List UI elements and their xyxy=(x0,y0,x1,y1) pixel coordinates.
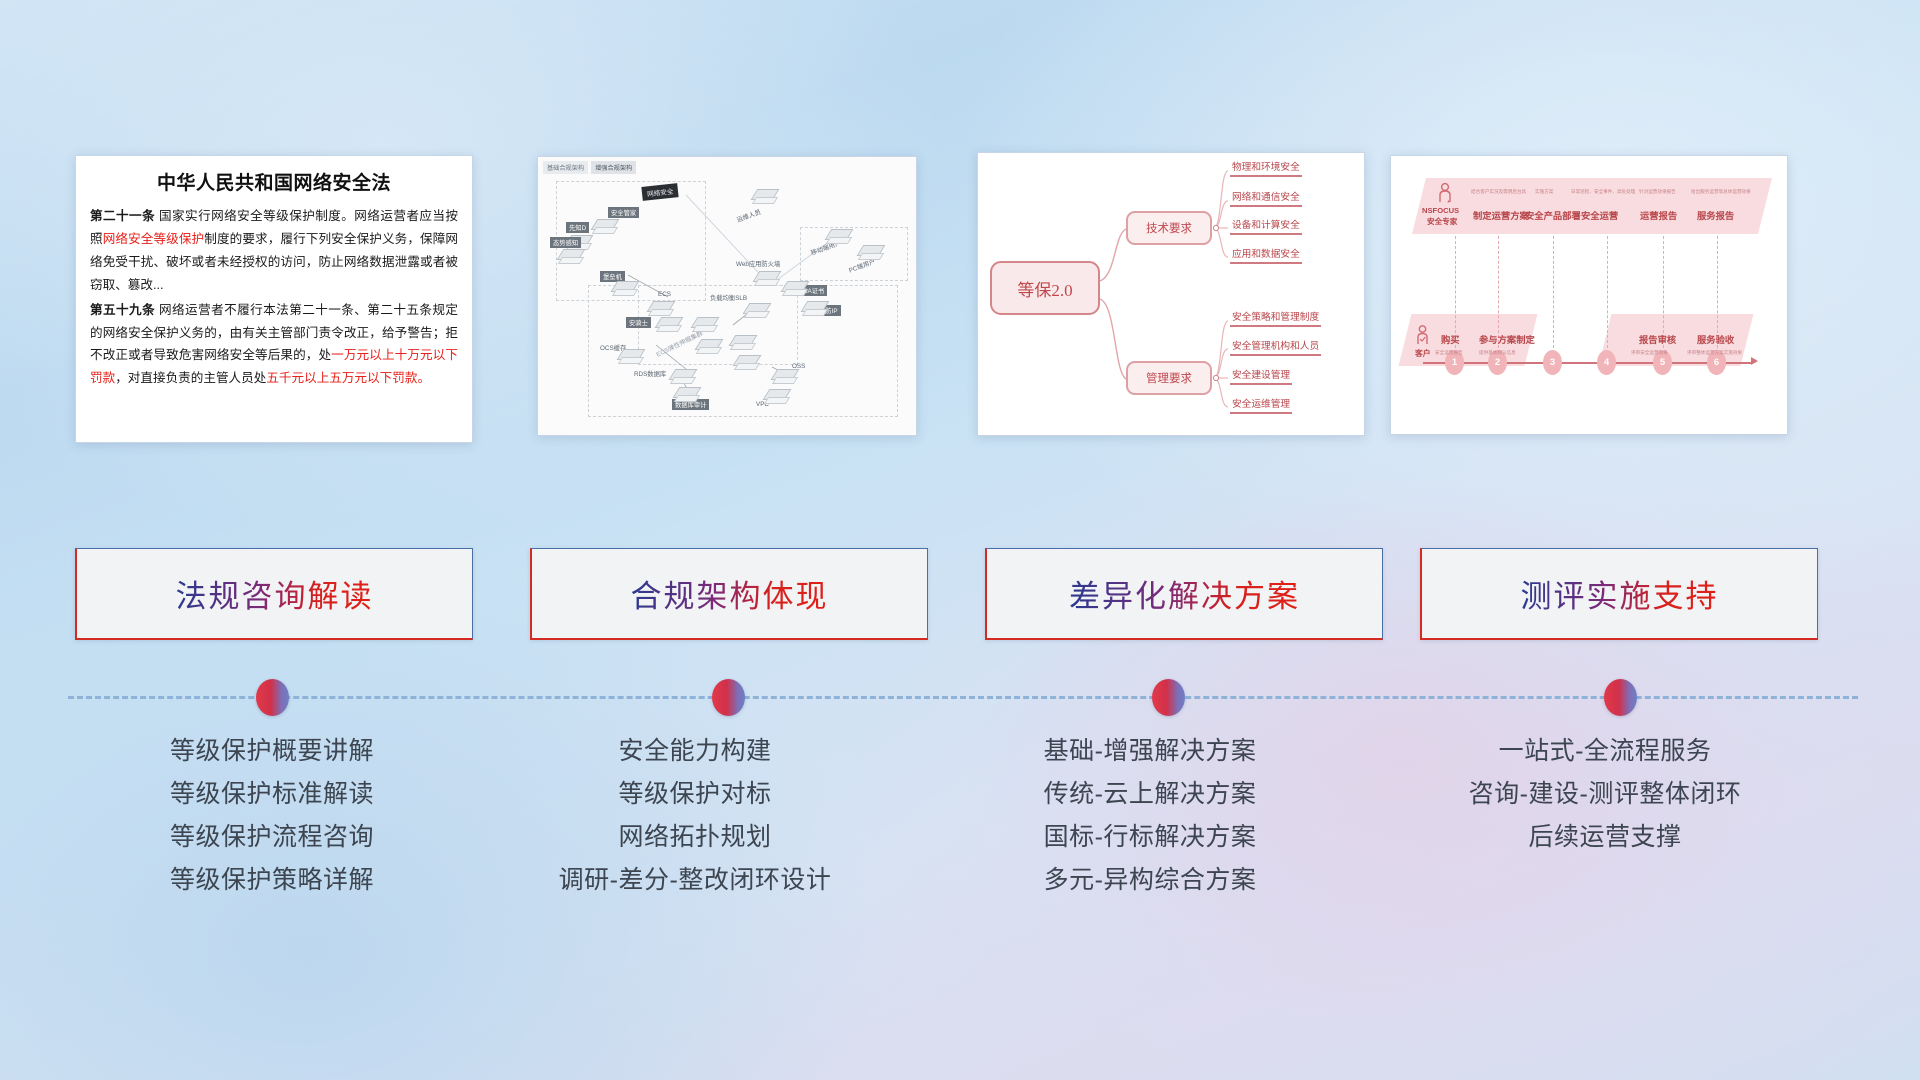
law-paragraph-1: 第二十一条 国家实行网络安全等级保护制度。网络运营者应当按照网络安全等级保护制度… xyxy=(90,205,458,297)
mindmap-leaf-m3: 安全建设管理 xyxy=(1230,367,1292,385)
feature-item-1-4: 等级保护策略详解 xyxy=(62,859,482,902)
top-step-3-label: 安全运营 xyxy=(1581,208,1618,222)
cube-ocs-cache xyxy=(620,349,646,369)
cube-pc-user xyxy=(860,245,886,265)
feature-item-1-3: 等级保护流程咨询 xyxy=(62,816,482,859)
cube-vpc xyxy=(766,389,792,409)
timeline-strip xyxy=(0,668,1920,728)
bottom-step-1-sub: 安全运营报告 xyxy=(1435,350,1463,356)
top-step-5-sub: 给出服务运营等总体运营效果 xyxy=(1691,189,1751,195)
cube-ca-cert xyxy=(784,281,810,301)
law-run-2d-highlight: 五千元以上五万元以下罚款。 xyxy=(266,371,430,385)
timeline-dot-4[interactable] xyxy=(1604,679,1637,716)
cube-waf xyxy=(756,271,782,291)
feature-item-4-1: 一站式-全流程服务 xyxy=(1395,730,1815,773)
feature-item-3-3: 国标-行标解决方案 xyxy=(940,816,1360,859)
title-label-4: 测评实施支持 xyxy=(1521,571,1719,616)
card-service-timeline[interactable]: NSFOCUS 安全专家 结合客户实况及需明后台具 制定运营方案 实施方案 安全… xyxy=(1390,155,1788,435)
law-run-1b-highlight: 网络安全等级保护 xyxy=(103,232,205,246)
customer-label: 客户 xyxy=(1415,348,1431,359)
service-timeline-canvas: NSFOCUS 安全专家 结合客户实况及需明后台具 制定运营方案 实施方案 安全… xyxy=(1391,156,1787,434)
card-mindmap[interactable]: 等保2.0 技术要求 管理要求 物理和环境安全 网络和通信安全 设备和计算安全 … xyxy=(977,152,1365,436)
cube-mobile-user xyxy=(828,229,854,249)
feature-item-3-2: 传统-云上解决方案 xyxy=(940,773,1360,816)
mindmap-leaf-t2: 网络和通信安全 xyxy=(1230,189,1302,207)
node-label-rds: RDS数据库 xyxy=(634,369,666,378)
title-label-3: 差异化解决方案 xyxy=(1069,571,1300,616)
top-step-4-label: 运营报告 xyxy=(1640,208,1677,222)
feature-item-2-4: 调研-差分-整改闭环设计 xyxy=(485,859,905,902)
node-label-xianzhi: 先知D xyxy=(566,222,589,233)
cube-slb xyxy=(746,303,772,323)
law-article-label-1: 第二十一条 xyxy=(90,209,155,223)
feature-column-1: 等级保护概要讲解 等级保护标准解读 等级保护流程咨询 等级保护策略详解 xyxy=(62,730,482,902)
top-step-4-sub: 针对运营效果报告 xyxy=(1639,189,1676,195)
law-document-body: 中华人民共和国网络安全法 第二十一条 国家实行网络安全等级保护制度。网络运营者应… xyxy=(76,156,472,400)
cube-bastion-host xyxy=(614,281,640,301)
top-step-2-sub: 实施方案 xyxy=(1535,189,1553,195)
bottom-step-1-label: 购买 xyxy=(1441,332,1460,346)
node-label-security-steward: 安全管家 xyxy=(608,207,639,218)
bottom-step-4-label: 服务验收 xyxy=(1697,332,1734,346)
mindmap-leaf-m1: 安全策略和管理制度 xyxy=(1230,309,1321,327)
node-label-ecs: ECS xyxy=(658,291,671,298)
top-step-3-sub: 日常巡检、安全事件、高危处理 xyxy=(1571,189,1635,195)
timeline-node-4[interactable]: 4 xyxy=(1597,350,1616,375)
mindmap-branch-management: 管理要求 xyxy=(1126,361,1212,395)
timeline-node-3[interactable]: 3 xyxy=(1543,350,1562,375)
cube-ecs-1 xyxy=(694,317,720,337)
architecture-canvas: 基础合规架构 增强合规架构 网络安全 安全管家 先知D 态势感知 xyxy=(538,157,916,435)
cube-ops-staff xyxy=(754,189,780,209)
law-title: 中华人民共和国网络安全法 xyxy=(90,168,458,195)
top-step-2-label: 安全产品部署 xyxy=(1525,208,1581,222)
node-label-slb: 负载均衡SLB xyxy=(710,293,747,302)
bottom-step-2-label: 参与方案制定 xyxy=(1479,332,1535,346)
feature-item-4-3: 后续运营支撑 xyxy=(1395,816,1815,859)
mindmap-leaf-m4: 安全运维管理 xyxy=(1230,396,1292,414)
node-label-situational-awareness: 态势感知 xyxy=(550,237,581,248)
cube-anti-ddos-ip xyxy=(804,301,830,321)
feature-item-1-2: 等级保护标准解读 xyxy=(62,773,482,816)
cube-ecs-4 xyxy=(736,355,762,375)
mindmap-leaf-t1: 物理和环境安全 xyxy=(1230,159,1302,177)
timeline-dashed-line xyxy=(68,696,1858,699)
bottom-step-3-label: 报告审核 xyxy=(1639,332,1676,346)
cube-security-steward xyxy=(594,219,620,239)
expert-label-line1: NSFOCUS xyxy=(1422,206,1459,215)
cube-oss xyxy=(774,369,800,389)
timeline-axis xyxy=(1423,362,1753,364)
feature-item-2-3: 网络拓扑规划 xyxy=(485,816,905,859)
feature-item-1-1: 等级保护概要讲解 xyxy=(62,730,482,773)
feature-column-2: 安全能力构建 等级保护对标 网络拓扑规划 调研-差分-整改闭环设计 xyxy=(485,730,905,902)
feature-item-3-1: 基础-增强解决方案 xyxy=(940,730,1360,773)
cube-db-audit xyxy=(676,387,702,407)
cube-anqishi xyxy=(658,317,684,337)
title-boxes-row: 法规咨询解读 合规架构体现 差异化解决方案 测评实施支持 xyxy=(0,548,1920,644)
feature-column-4: 一站式-全流程服务 咨询-建设-测评整体闭环 后续运营支撑 xyxy=(1395,730,1815,859)
feature-item-2-2: 等级保护对标 xyxy=(485,773,905,816)
law-article-label-2: 第五十九条 xyxy=(90,303,155,317)
mindmap-root: 等保2.0 xyxy=(990,261,1100,315)
cube-rds xyxy=(672,369,698,389)
node-label-waf: Web应用防火墙 xyxy=(736,259,780,268)
timeline-dot-3[interactable] xyxy=(1152,679,1185,716)
title-box-compliance-architecture[interactable]: 合规架构体现 xyxy=(530,548,928,640)
cards-row: 中华人民共和国网络安全法 第二十一条 国家实行网络安全等级保护制度。网络运营者应… xyxy=(0,0,1920,470)
top-step-1-sub: 结合客户实况及需明后台具 xyxy=(1471,189,1526,195)
node-label-anqishi: 安骑士 xyxy=(626,317,651,328)
expert-label-line2: 安全专家 xyxy=(1427,216,1457,227)
cube-ecs-3 xyxy=(732,335,758,355)
feature-lists-row: 等级保护概要讲解 等级保护标准解读 等级保护流程咨询 等级保护策略详解 安全能力… xyxy=(0,730,1920,990)
expert-person-icon xyxy=(1437,182,1453,204)
customer-person-icon xyxy=(1415,324,1430,346)
card-architecture-diagram[interactable]: 基础合规架构 增强合规架构 网络安全 安全管家 先知D 态势感知 xyxy=(537,156,917,436)
title-label-2: 合规架构体现 xyxy=(631,571,829,616)
bottom-step-3-sub: 评审安全运营效果 xyxy=(1631,350,1668,356)
mindmap-canvas: 等保2.0 技术要求 管理要求 物理和环境安全 网络和通信安全 设备和计算安全 … xyxy=(978,153,1364,435)
timeline-dash-4 xyxy=(1607,236,1608,348)
timeline-top-band xyxy=(1412,178,1772,234)
card-law-document[interactable]: 中华人民共和国网络安全法 第二十一条 国家实行网络安全等级保护制度。网络运营者应… xyxy=(75,155,473,443)
cube-situational-awareness xyxy=(560,249,586,269)
timeline-dot-1[interactable] xyxy=(256,679,289,716)
title-box-differentiated-solution[interactable]: 差异化解决方案 xyxy=(985,548,1383,640)
title-label-1: 法规咨询解读 xyxy=(176,571,374,616)
timeline-arrow-icon xyxy=(1751,357,1758,365)
feature-item-4-2: 咨询-建设-测评整体闭环 xyxy=(1395,773,1815,816)
mindmap-leaf-t4: 应用和数据安全 xyxy=(1230,246,1302,264)
feature-column-3: 基础-增强解决方案 传统-云上解决方案 国标-行标解决方案 多元-异构综合方案 xyxy=(940,730,1360,902)
feature-item-3-4: 多元-异构综合方案 xyxy=(940,859,1360,902)
title-box-evaluation-support[interactable]: 测评实施支持 xyxy=(1420,548,1818,640)
feature-item-2-1: 安全能力构建 xyxy=(485,730,905,773)
top-step-5-label: 服务报告 xyxy=(1697,208,1734,222)
title-box-regulation-consulting[interactable]: 法规咨询解读 xyxy=(75,548,473,640)
mindmap-leaf-m2: 安全管理机构和人员 xyxy=(1230,338,1321,356)
mindmap-branch-technical: 技术要求 xyxy=(1126,211,1212,245)
timeline-dash-3 xyxy=(1553,236,1554,348)
timeline-dot-2[interactable] xyxy=(712,679,745,716)
cube-ecs-2 xyxy=(698,339,724,359)
mindmap-leaf-t3: 设备和计算安全 xyxy=(1230,217,1302,235)
law-paragraph-2: 第五十九条 网络运营者不履行本法第二十一条、第二十五条规定的网络安全保护义务的，… xyxy=(90,299,458,391)
bottom-step-4-sub: 评审整体运营方案实施效果 xyxy=(1687,350,1742,356)
bottom-step-2-sub: 提供基本网认信息 xyxy=(1479,350,1516,356)
top-step-1-label: 制定运营方案 xyxy=(1473,208,1529,222)
law-run-2c: ，对直接负责的主管人员处 xyxy=(115,371,266,385)
